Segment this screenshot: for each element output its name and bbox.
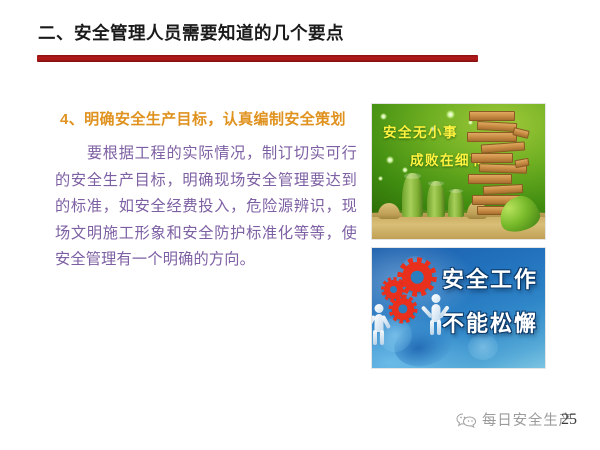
cooling-tower-shape [402, 173, 423, 217]
speech-bubble-icon [456, 412, 477, 428]
section-subheading: 4、明确安全生产目标，认真编制安全策划 [60, 108, 346, 129]
person-figure-left [372, 304, 385, 344]
person-figure-right [429, 294, 442, 334]
page-title: 二、安全管理人员需要知道的几个要点 [38, 20, 344, 45]
page-number: 25 [561, 411, 577, 429]
body-paragraph: 要根据工程的实际情况，制订切实可行的安全生产目标，明确现场安全管理要达到的标准，… [55, 141, 357, 274]
sparkle-icon [380, 113, 387, 120]
sparkle-icon [386, 156, 394, 164]
green-safety-poster-image: 安全无小事 成败在细节 [372, 104, 545, 239]
title-underline-rule [37, 55, 478, 62]
green-poster-line-1: 安全无小事 [383, 121, 458, 141]
slide-canvas: 二、安全管理人员需要知道的几个要点 4、明确安全生产目标，认真编制安全策划 要根… [0, 0, 600, 450]
gear-icon [392, 298, 414, 320]
sparkle-icon [402, 167, 408, 173]
blue-safety-poster-image: 安全工作 不能松懈 [372, 248, 545, 368]
watermark: 每日安全生产 [456, 409, 574, 430]
cooling-tower-shape [448, 189, 464, 217]
gear-icon [402, 262, 432, 292]
sand-mound-shape [378, 203, 400, 219]
blue-poster-line-2: 不能松懈 [442, 306, 538, 338]
blue-poster-line-1: 安全工作 [442, 262, 538, 294]
sparkle-icon [378, 176, 383, 181]
cooling-tower-shape [427, 181, 445, 217]
sparkle-icon [446, 110, 455, 119]
